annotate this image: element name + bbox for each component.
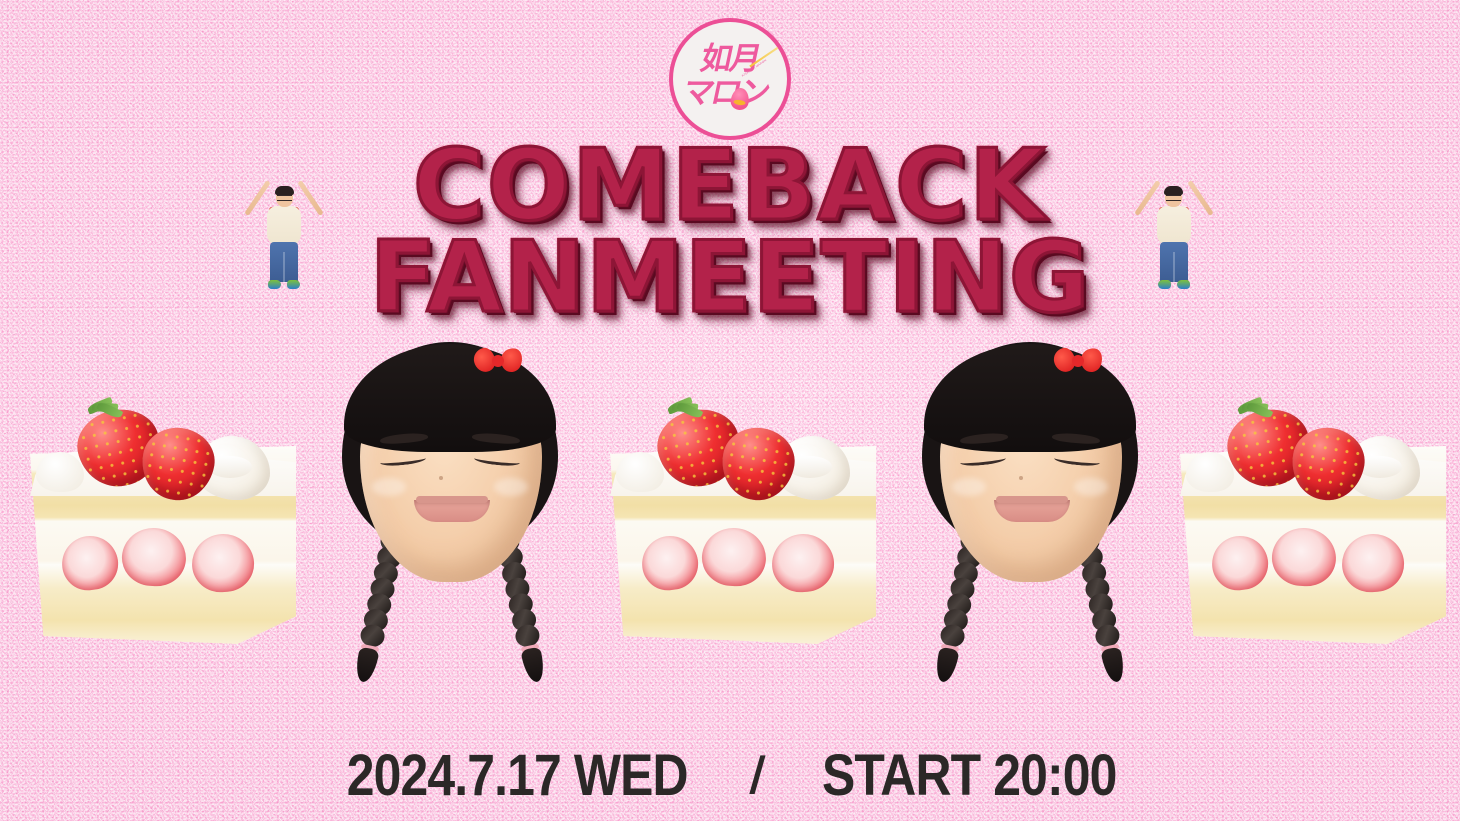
cake-slice-2: [602, 388, 892, 648]
face-cutout-1: [326, 342, 574, 732]
bow-knot: [1072, 355, 1084, 367]
mouth-smile: [414, 500, 490, 522]
figure-shoe-right: [287, 280, 300, 289]
event-info-bar: 2024.7.17 WED / START 20:00: [0, 742, 1460, 809]
hair-fringe: [344, 344, 556, 452]
cake-cream-left: [616, 452, 664, 492]
braid-tip: [520, 646, 547, 683]
red-bow-icon: [474, 348, 522, 374]
cheering-figure-right: [1137, 172, 1211, 294]
figure-jeans: [1160, 242, 1188, 282]
figure-shoe-right: [1158, 280, 1171, 289]
cake-cream-left: [36, 452, 84, 492]
braid-tip: [1100, 646, 1127, 683]
cheek-highlight-right: [494, 478, 528, 496]
cake-cream-left: [1186, 452, 1234, 492]
cheering-figure-left: [247, 172, 321, 294]
figure-jeans: [270, 242, 298, 282]
figure-arm-right: [1134, 180, 1161, 216]
braid-tip: [353, 646, 380, 683]
figure-arm-left: [1187, 180, 1214, 216]
cheek-highlight-left: [372, 478, 406, 496]
cheek-highlight-right: [1074, 478, 1108, 496]
hair-fringe: [924, 344, 1136, 452]
figure-shoe-left: [1177, 280, 1190, 289]
figure-hair: [1164, 186, 1183, 195]
figure-shirt: [1157, 206, 1191, 246]
face-cutout-2: [906, 342, 1154, 732]
figure-shirt: [267, 206, 301, 246]
nose: [1019, 476, 1023, 480]
poster-root: 如月 マロン KISARAGI MARON COMEBA: [0, 0, 1460, 821]
glasses-icon: [277, 195, 292, 201]
cake-slice-1: [22, 388, 312, 648]
cheek-highlight-left: [952, 478, 986, 496]
logo-kana-text: マロン: [670, 78, 781, 109]
bow-knot: [492, 355, 504, 367]
event-start-time: START 20:00: [822, 742, 1117, 809]
cake-slice-3: [1172, 388, 1460, 648]
event-date: 2024.7.17 WED: [347, 742, 688, 809]
braid-tip: [933, 646, 960, 683]
mouth-smile: [994, 500, 1070, 522]
red-bow-icon: [1054, 348, 1102, 374]
figure-arm-right: [297, 180, 324, 216]
figure-arm-left: [244, 180, 271, 216]
info-separator: /: [718, 746, 796, 806]
glasses-icon: [1166, 195, 1181, 201]
nose: [439, 476, 443, 480]
figure-shoe-left: [268, 280, 281, 289]
kisaragi-maron-logo: 如月 マロン KISARAGI MARON: [669, 18, 791, 140]
figure-hair: [275, 186, 294, 195]
